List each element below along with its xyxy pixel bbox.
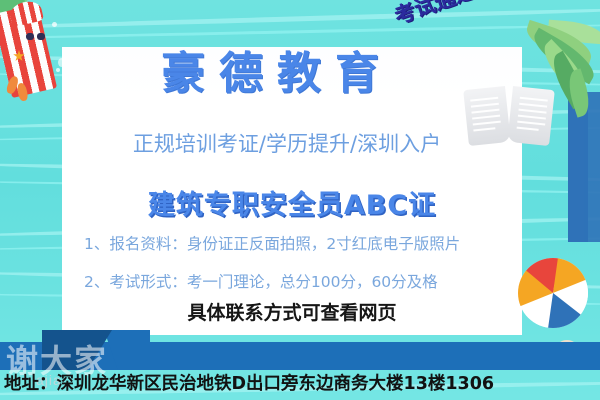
blue-accent-bar-secondary — [584, 92, 600, 242]
promotional-poster: 豪德教育 正规培训考证/学历提升/深圳入户 建筑专职安全员ABC证 1、报名资料… — [0, 0, 600, 400]
brand-title: 豪德教育 — [62, 52, 492, 96]
contact-note: 具体联系方式可查看网页 — [62, 298, 522, 325]
bullet-item-1: 1、报名资料：身份证正反面拍照，2寸红底电子版照片 — [84, 232, 460, 254]
open-book-icon — [466, 88, 552, 150]
address-line: 地址：深圳龙华新区民治地铁D出口旁东边商务大楼13楼1306 — [4, 370, 494, 395]
certificate-headline: 建筑专职安全员ABC证 — [62, 183, 522, 222]
brand-subtitle: 正规培训考证/学历提升/深圳入户 — [62, 128, 512, 158]
beach-ball-icon — [518, 258, 588, 328]
bullet-item-2: 2、考试形式：考一门理论，总分100分，60分及格 — [84, 270, 438, 292]
sunglasses-icon — [26, 33, 46, 40]
bubble-decor-small-icon — [56, 68, 60, 72]
bubble-decor-icon — [52, 22, 57, 27]
